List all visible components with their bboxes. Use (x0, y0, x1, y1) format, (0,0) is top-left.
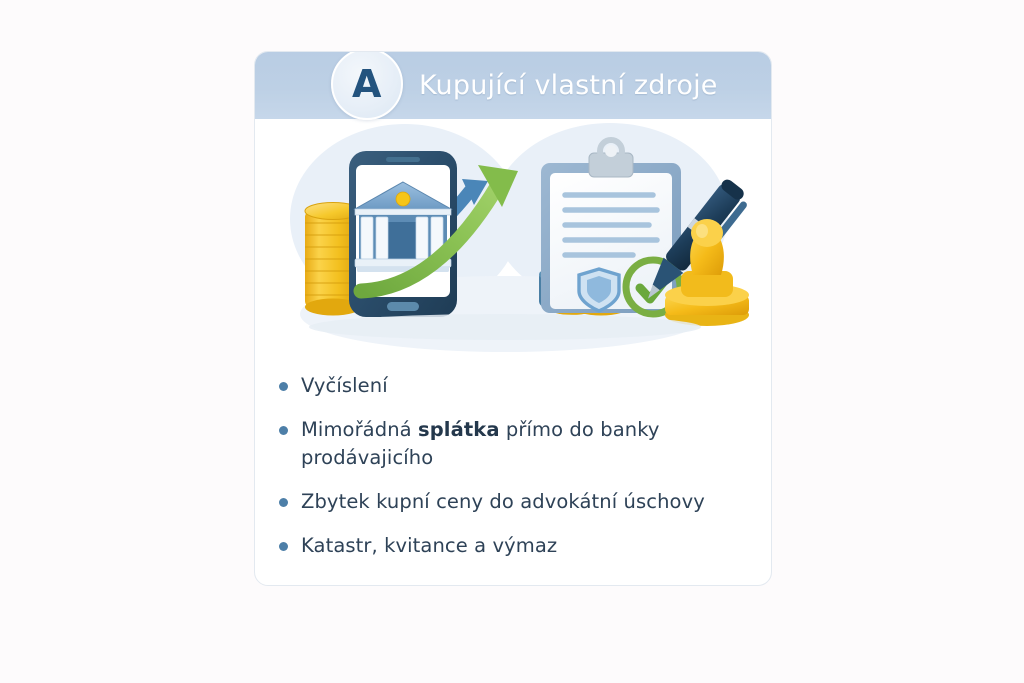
step-badge-letter: A (352, 65, 382, 103)
page-title: Kupující vlastní zdroje (419, 52, 718, 119)
bullet-dot-icon (279, 498, 288, 507)
bullet-dot-icon (279, 382, 288, 391)
list-item: Vyčíslení (279, 372, 759, 400)
bullet-text: Mimořádná splátka přímo do banky prodáva… (301, 416, 759, 472)
list-item: Katastr, kvitance a výmaz (279, 532, 759, 560)
bullet-text: Zbytek kupní ceny do advokátní úschovy (301, 488, 705, 516)
bullet-text: Katastr, kvitance a výmaz (301, 532, 557, 560)
bullet-dot-icon (279, 426, 288, 435)
bullet-dot-icon (279, 542, 288, 551)
bullet-list: Vyčíslení Mimořádná splátka přímo do ban… (279, 372, 759, 576)
info-card: A Kupující vlastní zdroje (254, 51, 772, 586)
illustration (255, 119, 772, 373)
list-item: Mimořádná splátka přímo do banky prodáva… (279, 416, 759, 472)
page-root: A Kupující vlastní zdroje (0, 0, 1024, 683)
illustration-svg (255, 119, 772, 373)
list-item: Zbytek kupní ceny do advokátní úschovy (279, 488, 759, 516)
step-badge-a: A (331, 51, 403, 120)
bullet-text: Vyčíslení (301, 372, 388, 400)
